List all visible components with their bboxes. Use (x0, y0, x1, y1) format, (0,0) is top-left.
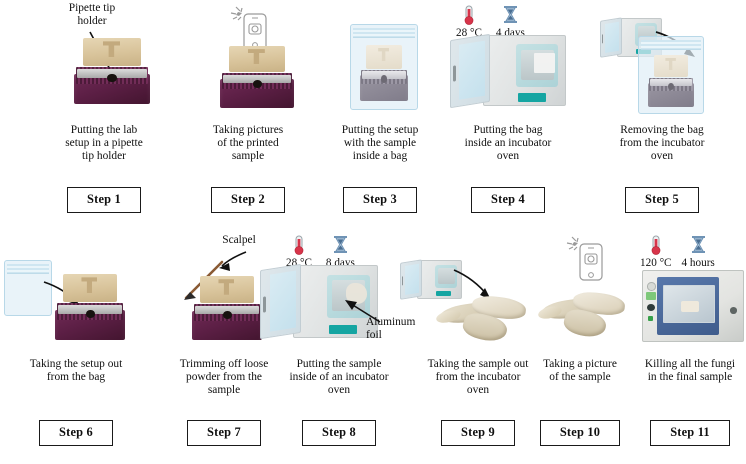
step-11-conditions: 120 °C 4 hours (640, 234, 715, 269)
nozzle-blob (253, 80, 263, 88)
printed-block (63, 274, 116, 302)
printed-block (366, 45, 402, 69)
oven-door (400, 259, 422, 300)
step-10-box[interactable]: Step 10 (540, 420, 620, 446)
hourglass-icon (331, 234, 349, 256)
mycelium-sample-image (434, 292, 530, 344)
step-4[interactable]: 28 °C 4 days (428, 0, 588, 232)
hourglass-icon (501, 4, 519, 26)
step-10[interactable]: Taking a picture of the sample Step 10 (522, 232, 638, 464)
step-9-caption: Taking the sample out from the incubator… (428, 358, 529, 396)
oven-door (600, 17, 622, 58)
incubator-oven-icon (450, 32, 566, 110)
thermometer-icon (460, 4, 478, 26)
hourglass-icon (689, 234, 707, 256)
vacuum-oven-window (663, 285, 715, 323)
protocol-row-2: Taking the setup out from the bag Step 6… (0, 232, 746, 464)
printed-t-shape (378, 48, 389, 62)
vacuum-oven-control-strip (645, 278, 657, 333)
step-11[interactable]: 120 °C 4 hours (634, 232, 746, 464)
mycelium-sample-image (536, 288, 628, 340)
printed-block (654, 55, 689, 77)
lab-setup-in-bag (360, 45, 408, 101)
lab-setup-image (55, 274, 125, 340)
nozzle-blob (86, 310, 95, 319)
step-3-caption: Putting the setup with the sample inside… (342, 124, 419, 162)
temperature-value: 120 °C (640, 257, 672, 269)
oven-door (260, 264, 301, 340)
step-5[interactable]: Removing the bag from the incubator oven… (578, 0, 746, 232)
vacuum-oven-knob (647, 304, 655, 311)
bagged-sample-inside (534, 53, 555, 74)
oven-door-handle (263, 296, 266, 313)
step-2-caption: Taking pictures of the printed sample (213, 124, 283, 162)
step-6-box[interactable]: Step 6 (39, 420, 113, 446)
printed-t-shape (81, 277, 97, 293)
vacuum-oven-door (657, 277, 719, 336)
duration-condition: 4 hours (682, 234, 715, 269)
oven-body (483, 35, 566, 106)
temperature-condition: 120 °C (640, 234, 672, 269)
vacuum-oven-valve (730, 307, 737, 313)
step-5-box[interactable]: Step 5 (625, 187, 699, 213)
final-sample-inside (681, 301, 699, 312)
oven-door-handle (402, 276, 404, 285)
bag-zip-seal (7, 264, 49, 274)
thermometer-icon (290, 234, 308, 256)
step-4-box[interactable]: Step 4 (471, 187, 545, 213)
protocol-row-1: Pipette tip holder Putting the lab setup… (0, 0, 746, 232)
printed-block (229, 46, 285, 72)
pipette-tip-holder-annotation: Pipette tip holder (42, 2, 142, 27)
thermometer-icon (647, 234, 665, 256)
zip-bag-icon (350, 24, 418, 110)
lab-setup-image (74, 38, 150, 104)
step-3-box[interactable]: Step 3 (343, 187, 417, 213)
vacuum-oven-dial (647, 282, 656, 291)
oven-door-glass (605, 21, 619, 53)
step-6-caption: Taking the setup out from the bag (30, 358, 123, 384)
vacuum-oven-display (646, 292, 656, 300)
vacuum-oven-led (648, 316, 654, 321)
vacuum-drying-oven-icon (642, 270, 742, 340)
step-1[interactable]: Pipette tip holder Putting the lab setup… (22, 0, 186, 232)
printed-block (200, 276, 253, 303)
oven-door-glass (270, 271, 296, 332)
phone-camera-icon (566, 236, 610, 284)
oven-door-handle (602, 34, 604, 43)
zip-bag-with-sample (638, 36, 704, 114)
bag-zip-seal (641, 40, 701, 50)
step-9-box[interactable]: Step 9 (441, 420, 515, 446)
lab-setup-in-bag (648, 55, 694, 107)
vacuum-oven-body (642, 270, 744, 342)
step-4-caption: Putting the bag inside an incubator oven (465, 124, 552, 162)
step-2-box[interactable]: Step 2 (211, 187, 285, 213)
step-1-caption: Putting the lab setup in a pipette tip h… (65, 124, 143, 162)
oven-door-glass (405, 263, 419, 295)
oven-door-glass (459, 40, 485, 99)
step-8-box[interactable]: Step 8 (302, 420, 376, 446)
step-5-caption: Removing the bag from the incubator oven (620, 124, 705, 162)
step-11-box[interactable]: Step 11 (650, 420, 730, 446)
printed-block (83, 38, 141, 66)
step-1-box[interactable]: Step 1 (67, 187, 141, 213)
printed-sample-image (220, 46, 294, 108)
duration-value: 4 hours (682, 257, 715, 269)
bag-zip-seal (353, 28, 415, 38)
step-8-caption: Putting the sample inside of an incubato… (289, 358, 388, 396)
nozzle-blob (381, 75, 387, 82)
step-11-caption: Killing all the fungi in the final sampl… (645, 358, 735, 384)
oven-control-panel (518, 93, 546, 102)
sample-being-trimmed (192, 276, 262, 340)
oven-door-handle (453, 65, 456, 81)
printed-t-shape (248, 49, 265, 64)
printed-t-shape (665, 58, 675, 71)
step-7-box[interactable]: Step 7 (187, 420, 261, 446)
step-10-caption: Taking a picture of the sample (543, 358, 617, 384)
nozzle-blob (223, 311, 232, 319)
printed-t-shape (103, 41, 120, 57)
step-6[interactable]: Taking the setup out from the bag Step 6 (0, 232, 152, 464)
oven-door (450, 33, 490, 107)
printed-t-shape (218, 279, 234, 295)
